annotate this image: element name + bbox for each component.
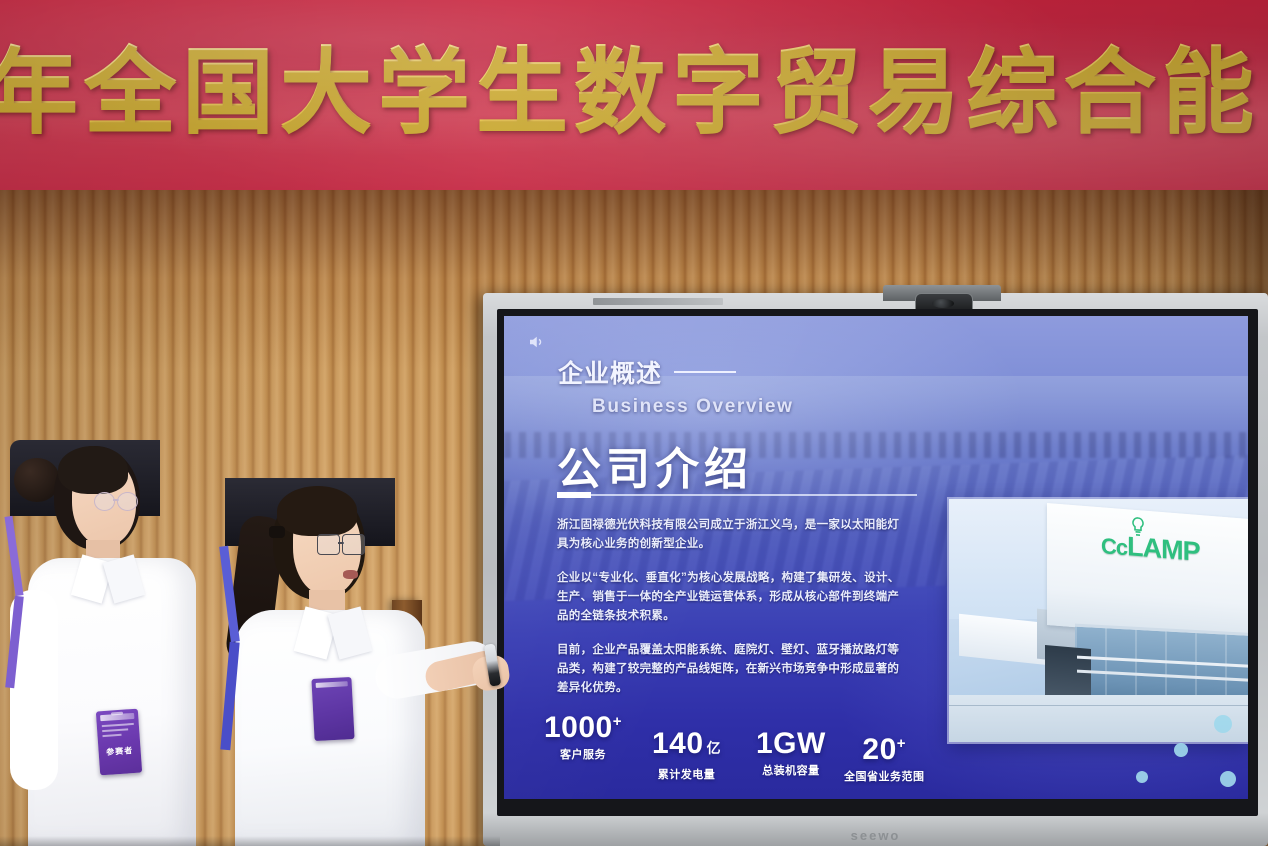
stat-item: 1GW 总装机容量 [756,728,826,778]
stat-unit: 亿 [707,740,722,756]
kicker-rule [674,371,736,373]
slide-kicker-cn: 企业概述 [558,354,662,390]
hair-front [58,446,128,494]
stat-superscript: + [897,735,906,752]
dot [1220,771,1236,787]
presenter-left: 参赛者 [10,440,200,846]
floor-shadow [0,836,500,846]
stat-value: 20 [862,733,896,766]
display-brand-label: seewo [851,828,901,843]
stat-item: 20+ 全国省业务范围 [844,728,925,784]
slide-body-copy: 浙江固禄德光伏科技有限公司成立于浙江义乌，是一家以太阳能灯具为核心业务的创新型企… [557,516,902,713]
participant-badge [311,677,354,741]
mouth-speaking [343,570,358,579]
stat-value: 140 [652,727,704,760]
event-banner-text: 年全国大学生数字贸易综合能 [0,38,1268,146]
badge-text-lines [102,723,135,740]
slide-kicker-en: Business Overview [592,396,793,418]
eyeglasses-icon [317,534,365,553]
badge-role-text: 参赛者 [98,745,141,759]
hair-tie [269,526,285,538]
stat-superscript: + [613,713,622,730]
stat-item: 140亿 累计发电量 [652,728,721,782]
dot [1214,715,1232,733]
lens-right [117,492,138,511]
stat-caption: 客户服务 [544,746,622,762]
slide-stats-row: 1000+ 客户服务 140亿 累计发电量 1GW 总装机容量 [544,706,964,786]
bezel-vent [593,298,723,305]
stat-caption: 全国省业务范围 [844,768,925,784]
logo-lamp: LAMP [1127,531,1200,567]
hair-front [277,486,357,536]
dot [1136,771,1148,783]
stat-value-wrap: 140亿 [652,728,721,764]
interactive-display[interactable]: 企业概述 Business Overview 公司介绍 浙江固禄德光伏科技有限公… [483,293,1268,846]
speaker-icon[interactable] [526,333,546,351]
dot [1174,743,1188,757]
stat-value: 1GW [756,727,826,760]
eyeglasses-icon [94,492,138,509]
stat-caption: 累计发电量 [652,766,721,782]
lens-left [317,534,340,555]
title-underline [557,494,917,496]
slide-paragraph: 目前，企业产品覆盖太阳能系统、庭院灯、壁灯、蓝牙播放路灯等品类，构建了较完整的产… [557,641,902,698]
presenter-right [225,478,495,846]
stat-value-wrap: 20+ [844,728,925,766]
event-banner: 年全国大学生数字贸易综合能 [0,0,1268,190]
photo-main-facade [1047,503,1248,643]
stat-caption: 总装机容量 [756,762,826,778]
lens-right [342,534,365,555]
slide-title: 公司介绍 [557,433,753,497]
badge-slot [111,712,123,716]
logo-cc: Cc [1101,533,1127,560]
slide-kicker: 企业概述 [558,354,736,390]
decorative-dots [1094,699,1244,795]
slide-paragraph: 企业以“专业化、垂直化”为核心发展战略，构建了集研发、设计、生产、销售于一体的全… [557,569,902,626]
stat-value: 1000 [544,711,613,744]
presentation-slide[interactable]: 企业概述 Business Overview 公司介绍 浙江固禄德光伏科技有限公… [504,316,1248,799]
photo-scene: 年全国大学生数字贸易综合能 企业概述 Business Overview 公司介… [0,0,1268,846]
lens-left [94,492,115,511]
participant-badge: 参赛者 [96,709,142,776]
stat-value-wrap: 1000+ [544,706,622,744]
stat-item: 1000+ 客户服务 [544,706,622,762]
slide-paragraph: 浙江固禄德光伏科技有限公司成立于浙江义乌，是一家以太阳能灯具为核心业务的创新型企… [557,516,902,554]
stat-value-wrap: 1GW [756,728,826,760]
